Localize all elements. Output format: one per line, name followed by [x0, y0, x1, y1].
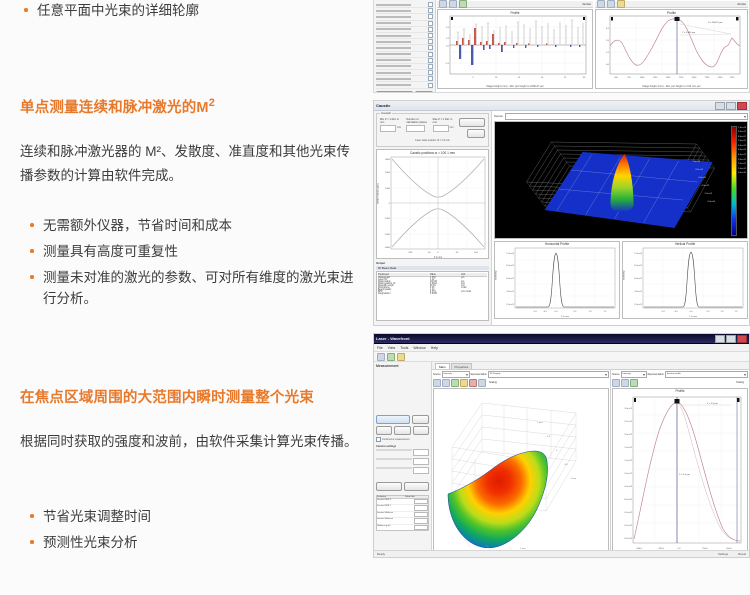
- aux-button-3[interactable]: [413, 426, 429, 435]
- export-button[interactable]: [415, 91, 433, 93]
- svg-text:2.5e+02: 2.5e+02: [624, 421, 632, 423]
- svg-text:0: 0: [437, 252, 439, 254]
- chart-tool-icon[interactable]: [449, 0, 457, 8]
- svg-text:X = 2400.0 µm: X = 2400.0 µm: [708, 22, 723, 24]
- svg-text:20: 20: [541, 77, 544, 79]
- continuous-checkbox[interactable]: [376, 437, 381, 442]
- svg-text:1.0: 1.0: [446, 38, 450, 40]
- status-settings[interactable]: Settings: [718, 552, 728, 556]
- svg-text:1000: 1000: [385, 188, 391, 190]
- svg-text:0.5: 0.5: [707, 311, 711, 313]
- svg-text:0.0e+00: 0.0e+00: [708, 201, 716, 203]
- intensity-3d-svg: 1.0e+038.0e+02 6.0e+024.0e+02 2.0e+020.0…: [495, 122, 730, 239]
- profile-tool-icon[interactable]: [621, 379, 629, 387]
- horizontal-profile-svg: 1.0e+038.0e+02 6.0e+024.0e+02 2.0e+02 -1…: [495, 242, 619, 319]
- zernike-curve-chart[interactable]: Profile X = 2400.0: [595, 9, 748, 89]
- caustic-chart-svg: 300020001000 0-1000-2000 -3000 -100-500 …: [377, 150, 489, 259]
- horizontal-profile-title: Horizontal Profile: [495, 242, 619, 246]
- section-1-bullet-list: 无需额外仪器，节省时间和成本 测量具有高度可重复性 测量未对准的激光的参数、可对…: [26, 215, 366, 314]
- svg-text:Y = 1.0 µm: Y = 1.0 µm: [707, 403, 718, 405]
- window-controls[interactable]: [715, 335, 747, 343]
- left-representation-label: Representation: [471, 373, 487, 376]
- status-ready: Ready: [377, 552, 385, 556]
- svg-text:-1.0: -1.0: [661, 311, 665, 313]
- svg-text:3000: 3000: [385, 159, 391, 161]
- caustic-chart[interactable]: Caustic positions w = 100.1 mm: [376, 149, 489, 259]
- svg-text:-5.0e+01: -5.0e+01: [624, 499, 633, 501]
- min-z-input[interactable]: [380, 125, 396, 132]
- zernike-bar-chart[interactable]: Profile: [437, 9, 593, 89]
- curve-chart-svg: X = 2400.0 µm Y = 1.044 µm 3.02.0 1.00.0…: [596, 10, 746, 89]
- curve-chart-legend: Zernike: [737, 3, 746, 6]
- svg-text:2500: 2500: [718, 77, 723, 79]
- svg-text:500: 500: [614, 77, 618, 79]
- continuous-label: Continuous measurement: [382, 438, 409, 441]
- measurement-pane-title: Measurement: [376, 364, 429, 368]
- caustic-chart-ylabel: Beam radius (µm): [376, 183, 379, 204]
- view-tool-icon[interactable]: [433, 379, 441, 387]
- svg-text:-0.5: -0.5: [674, 311, 678, 313]
- right-source-select[interactable]: Intensity: [621, 371, 647, 378]
- svg-text:1.0e+03: 1.0e+03: [634, 253, 642, 255]
- max-z-input[interactable]: [433, 125, 449, 132]
- svg-text:0.0: 0.0: [555, 311, 559, 313]
- svg-text:10: 10: [495, 77, 498, 79]
- intensity-3d-plot[interactable]: 1.0e+038.0e+02 6.0e+024.0e+02 2.0e+020.0…: [494, 121, 748, 239]
- svg-text:-1.0e+02: -1.0e+02: [624, 512, 633, 514]
- wavefront-surface-plot[interactable]: 1 mm0.5 0-0.5 -1 mm -1 mm-0.5 01 mm: [433, 388, 609, 556]
- screenshot-m2-caustic: Caustic Caustic Min Z = 1 Rel. in mm mm: [373, 100, 750, 326]
- svg-text:-0.5: -0.5: [543, 311, 547, 313]
- wavefront-window-titlebar: Laser - Wavefront: [374, 334, 749, 344]
- minimize-icon[interactable]: [715, 102, 725, 110]
- right-representation-label: Representation: [648, 373, 664, 376]
- close-icon[interactable]: [737, 102, 747, 110]
- menu-item-window[interactable]: Window: [413, 346, 425, 350]
- max-z-label: Max Z = 1 Rel. in mm: [433, 118, 456, 124]
- wavefront-control-pane: Measurement Continuous measurement Camer…: [374, 362, 432, 557]
- svg-text:0.5: 0.5: [547, 436, 551, 438]
- curve-chart-xlabel: Stage height (mm) - Rel. per height in 2…: [596, 85, 747, 88]
- svg-text:1.0e+03: 1.0e+03: [693, 161, 701, 163]
- caustic-window-titlebar: Caustic: [374, 101, 749, 111]
- curve-chart-title: Profile: [596, 11, 747, 15]
- prop-input[interactable]: [414, 505, 428, 510]
- stop-button[interactable]: [412, 415, 429, 424]
- list-item: 无需额外仪器，节省时间和成本: [26, 215, 366, 236]
- vertical-profile-chart[interactable]: Vertical Profile 1.0e+038.0e+02 6.0e: [622, 241, 748, 319]
- left-source-value: Intensity: [443, 373, 452, 375]
- vertical-profile-svg: 1.0e+038.0e+02 6.0e+024.0e+02 2.0e+02 -1…: [623, 242, 747, 319]
- tab-main[interactable]: Main: [435, 363, 450, 369]
- cell-value: 0.0035: [430, 293, 461, 295]
- table-row[interactable]: [376, 82, 433, 88]
- aux-button-2[interactable]: [394, 426, 410, 435]
- svg-text:0: 0: [389, 203, 391, 205]
- section-profile-svg: Y = 1.0 µm Y = 1.0 µm 3.0e+022.5e+02 2.0…: [613, 389, 747, 556]
- camera-setting-input[interactable]: [413, 458, 429, 465]
- menu-item-tools[interactable]: Tools: [400, 346, 408, 350]
- prop-input[interactable]: [414, 512, 428, 517]
- svg-text:-0.5: -0.5: [564, 464, 569, 466]
- section-1-heading: 单点测量连续和脉冲激光的M2: [20, 96, 365, 117]
- cell-definition: Zernike Wellness: [377, 512, 414, 517]
- section-1-heading-superscript: 2: [209, 97, 215, 109]
- close-button[interactable]: [467, 129, 485, 138]
- svg-text:100: 100: [474, 252, 478, 254]
- svg-text:-1000: -1000: [384, 218, 390, 220]
- svg-text:1.0: 1.0: [606, 52, 610, 54]
- svg-text:2000: 2000: [692, 77, 697, 79]
- svg-text:0.0e+00: 0.0e+00: [624, 486, 632, 488]
- svg-text:15: 15: [518, 77, 521, 79]
- wavefront-surface-svg: 1 mm0.5 0-0.5 -1 mm -1 mm-0.5 01 mm: [434, 389, 584, 556]
- svg-text:-1.0: -1.0: [445, 63, 450, 65]
- maximize-icon[interactable]: [726, 335, 736, 343]
- svg-text:1.0: 1.0: [589, 311, 593, 313]
- svg-text:750: 750: [627, 77, 631, 79]
- svg-text:6.0e+02: 6.0e+02: [699, 177, 707, 179]
- m2-results-table[interactable]: Parameter Value Unit Wavelength1.064µm L…: [376, 271, 489, 321]
- chart-tool-icon[interactable]: [439, 0, 447, 8]
- minimize-icon[interactable]: [715, 335, 725, 343]
- prop-input[interactable]: [414, 525, 428, 530]
- svg-text:1750: 1750: [679, 77, 684, 79]
- results-title: Output: [376, 261, 489, 265]
- results-header-parameter: Parameter: [378, 273, 430, 276]
- svg-text:1250: 1250: [653, 77, 658, 79]
- aux-button-1[interactable]: [376, 426, 392, 435]
- top-bullet-list: 任意平面中光束的详细轮廓: [20, 0, 360, 26]
- right-source-label: Source: [612, 373, 620, 376]
- profile-tool-icon[interactable]: [612, 379, 620, 387]
- svg-text:Y = 1.044 µm: Y = 1.044 µm: [682, 32, 695, 34]
- camera-setting-input[interactable]: [413, 449, 429, 456]
- menu-item-view[interactable]: View: [388, 346, 396, 350]
- vertical-profile-title: Vertical Profile: [623, 242, 747, 246]
- svg-text:0: 0: [556, 450, 558, 452]
- right-representation-value: Section profile: [666, 373, 681, 375]
- view-tab-strip[interactable]: Main Properties: [432, 362, 749, 370]
- cell-parameter: Astigmatism: [378, 293, 430, 295]
- chart-tool-icon[interactable]: [597, 0, 605, 8]
- profile-tool-icon[interactable]: [630, 379, 638, 387]
- plane-count-label: Number of calculation planes: [406, 118, 429, 124]
- svg-text:X in mm: X in mm: [561, 316, 569, 318]
- camera-settings-label: Camera settings: [376, 445, 429, 448]
- bar-chart-xlabel: Stage height (mm) - Rel. per height in 2…: [438, 85, 592, 88]
- view-tool-icon[interactable]: [460, 379, 468, 387]
- screenshot-wavefront-analysis: Laser - Wavefront File View Tools Window…: [373, 333, 750, 558]
- left-scaling-label: Scaling: [489, 381, 497, 384]
- caustic-chart-title: Caustic positions w = 100.1 mm: [377, 151, 488, 155]
- section-2-bullet-list: 节省光束调整时间 预测性光束分析: [26, 506, 366, 558]
- colorbar-ticks: 1.0e+03 9.0e+02 8.0e+02 7.0e+02 6.0e+02 …: [737, 126, 746, 234]
- wavefront-statusbar: Ready Settings Result: [374, 550, 749, 557]
- cell-definition: Zernike RMS Y: [377, 505, 414, 510]
- svg-text:5.0e+01: 5.0e+01: [624, 473, 632, 475]
- table-row[interactable]: Wellness (µm): [377, 525, 428, 530]
- intensity-colorbar: 1.0e+03 9.0e+02 8.0e+02 7.0e+02 6.0e+02 …: [730, 122, 747, 238]
- text-column: 任意平面中光束的详细轮廓 单点测量连续和脉冲激光的M2 连续和脉冲激光器的 M²…: [0, 0, 373, 595]
- menu-item-file[interactable]: File: [377, 346, 383, 350]
- chart-tool-icon[interactable]: [607, 0, 615, 8]
- plane-count-input[interactable]: [406, 125, 425, 132]
- results-table-title: M² Beam Data: [376, 266, 489, 270]
- list-item: 测量具有高度可重复性: [26, 241, 366, 262]
- screenshot-zernike-analysis: Zernike Profile: [373, 0, 750, 93]
- prop-input[interactable]: [414, 518, 428, 523]
- calibration-label: [376, 478, 429, 481]
- left-source-label: Source: [433, 373, 441, 376]
- chart-tool-icon[interactable]: [617, 0, 625, 8]
- svg-text:0.0: 0.0: [606, 64, 610, 66]
- results-header-value: Value: [430, 273, 461, 276]
- prop-input[interactable]: [414, 499, 428, 504]
- caustic-right-column: Source Intensity: [492, 111, 750, 326]
- bar-chart-svg: 2.01.0 0.0-1.0 51015 202530: [438, 10, 592, 89]
- calibration-button-1[interactable]: [376, 482, 402, 491]
- svg-text:3.0e+02: 3.0e+02: [624, 408, 632, 410]
- section-profile-title: Profile: [613, 389, 747, 393]
- svg-text:1.5e+02: 1.5e+02: [624, 447, 632, 449]
- svg-text:1.0e+02: 1.0e+02: [624, 460, 632, 462]
- svg-text:6.0e+02: 6.0e+02: [506, 278, 514, 280]
- section-profile-chart[interactable]: Profile: [612, 388, 748, 556]
- svg-text:2250: 2250: [705, 77, 710, 79]
- maximize-icon[interactable]: [726, 102, 736, 110]
- colorbar-tick: 0.0e+00: [738, 171, 746, 176]
- svg-text:8.0e+02: 8.0e+02: [634, 265, 642, 267]
- calibration-button-2[interactable]: [404, 482, 430, 491]
- bar-chart-legend: Zernike: [582, 3, 591, 6]
- svg-text:2.0e+02: 2.0e+02: [705, 193, 713, 195]
- calculate-button[interactable]: [459, 118, 485, 127]
- waist-hint: Laser waist position z0 = 0.0 mm: [380, 139, 485, 142]
- svg-text:1.5: 1.5: [604, 311, 608, 313]
- menu-item-help[interactable]: Help: [431, 346, 438, 350]
- source-select[interactable]: Intensity: [505, 113, 748, 120]
- section-2-paragraph: 根据同时获取的强度和波前，由软件采集计算光束传播。: [20, 430, 360, 454]
- source-label: Source: [494, 114, 503, 118]
- svg-text:3.0: 3.0: [606, 28, 610, 30]
- chart-tool-icon[interactable]: [459, 0, 467, 8]
- view-tool-icon[interactable]: [442, 379, 450, 387]
- zernike-bar-chart-container: Zernike Profile: [436, 0, 594, 93]
- svg-text:1000: 1000: [640, 77, 645, 79]
- svg-text:2.0e+02: 2.0e+02: [624, 434, 632, 436]
- cell-definition: Zernike Wellness: [377, 518, 414, 523]
- svg-text:Y in mm: Y in mm: [689, 316, 697, 318]
- list-item: 任意平面中光束的详细轮廓: [20, 0, 360, 21]
- colorbar-tick: 9.0e+02: [738, 130, 746, 135]
- caustic-group-label: Caustic: [380, 111, 392, 115]
- svg-text:Y = 1.0 µm: Y = 1.0 µm: [679, 474, 690, 476]
- left-representation-value: 3D Display: [489, 373, 501, 375]
- svg-text:1 mm: 1 mm: [537, 422, 543, 424]
- svg-text:-1 mm: -1 mm: [570, 478, 576, 480]
- left-representation-select[interactable]: 3D Display: [488, 371, 609, 378]
- caustic-settings-group: Caustic Min Z = 1 Rel. in mm mm Number o…: [376, 113, 489, 147]
- colorbar-tick: 4.0e+02: [738, 153, 746, 158]
- zernike-parameter-pane: [374, 0, 436, 93]
- svg-text:8.0e+02: 8.0e+02: [696, 169, 704, 171]
- cell-unit: [461, 293, 487, 295]
- svg-text:Z in mm: Z in mm: [434, 257, 442, 259]
- svg-text:2.0: 2.0: [446, 27, 450, 29]
- table-row[interactable]: Astigmatism0.0035: [378, 293, 487, 295]
- prop-header-value: Value/Unit: [405, 496, 428, 498]
- list-item: 节省光束调整时间: [26, 506, 366, 527]
- horizontal-profile-ylabel: Intensity: [494, 270, 497, 280]
- svg-text:-2.0e+02: -2.0e+02: [624, 538, 633, 540]
- bar-chart-toolbar[interactable]: Zernike: [437, 1, 593, 8]
- start-button[interactable]: [376, 415, 410, 424]
- svg-text:2000: 2000: [385, 172, 391, 174]
- svg-text:1.0: 1.0: [721, 311, 725, 313]
- left-source-select[interactable]: Intensity: [442, 371, 470, 378]
- svg-text:8.0e+02: 8.0e+02: [506, 265, 514, 267]
- svg-text:50: 50: [456, 252, 459, 254]
- close-icon[interactable]: [737, 335, 747, 343]
- horizontal-profile-chart[interactable]: Horizontal Profile 1.0e+038.0e+02 6.: [494, 241, 620, 319]
- svg-text:4.0e+02: 4.0e+02: [634, 291, 642, 293]
- svg-text:5: 5: [472, 77, 474, 79]
- tab-properties[interactable]: Properties: [451, 363, 473, 369]
- list-item: 预测性光束分析: [26, 532, 366, 553]
- wavefront-menubar[interactable]: File View Tools Window Help: [374, 344, 749, 352]
- svg-text:30: 30: [583, 77, 586, 79]
- svg-text:1500: 1500: [666, 77, 671, 79]
- view-tool-icon[interactable]: [469, 379, 477, 387]
- svg-text:-50: -50: [427, 252, 431, 254]
- wavefront-3d-view: Source Intensity Representation 3D Displ…: [432, 370, 611, 558]
- svg-text:4.0e+02: 4.0e+02: [702, 185, 710, 187]
- right-scaling-label: Scaling: [736, 381, 744, 384]
- caustic-left-column: Caustic Min Z = 1 Rel. in mm mm Number o…: [374, 111, 492, 326]
- section-1-heading-text: 单点测量连续和脉冲激光的M: [20, 100, 209, 116]
- wavefront-toolbar[interactable]: [374, 352, 749, 362]
- min-z-label: Min Z = 1 Rel. in mm: [380, 118, 403, 124]
- svg-text:-100: -100: [408, 252, 413, 254]
- svg-text:0.0: 0.0: [690, 311, 694, 313]
- svg-text:1.5: 1.5: [735, 311, 739, 313]
- svg-text:-1.5e+02: -1.5e+02: [624, 525, 633, 527]
- results-header-unit: Unit: [461, 273, 487, 276]
- right-representation-select[interactable]: Section profile: [665, 371, 748, 378]
- svg-text:4.0e+02: 4.0e+02: [506, 291, 514, 293]
- svg-text:0.0: 0.0: [446, 46, 450, 48]
- wavefront-profile-view: Source Intensity Representation Section …: [611, 370, 749, 558]
- window-controls[interactable]: [715, 102, 747, 110]
- run-icon[interactable]: [397, 353, 405, 361]
- svg-text:2.0e+02: 2.0e+02: [634, 304, 642, 306]
- right-source-value: Intensity: [622, 373, 631, 375]
- svg-text:2750: 2750: [730, 77, 735, 79]
- list-item: 测量未对准的激光的参数、可对所有维度的激光束进行分析。: [26, 267, 366, 309]
- section-1-paragraph: 连续和脉冲激光器的 M²、发散度、准直度和其他光束传播参数的计算由软件完成。: [20, 140, 360, 188]
- bar-chart-title: Profile: [438, 11, 592, 15]
- enable-disable-all-button[interactable]: [376, 91, 413, 93]
- zernike-curve-chart-container: Zernike Profile: [594, 0, 749, 93]
- cell-definition: Zernike RMS X: [377, 499, 414, 504]
- svg-text:-2000: -2000: [384, 234, 390, 236]
- curve-chart-toolbar[interactable]: Zernike: [595, 1, 748, 8]
- wavefront-window-title: Laser - Wavefront: [376, 336, 410, 341]
- cell-definition: Wellness (µm): [377, 525, 414, 530]
- svg-text:2.0e+02: 2.0e+02: [506, 304, 514, 306]
- view-tool-icon[interactable]: [478, 379, 486, 387]
- svg-text:6.0e+02: 6.0e+02: [634, 278, 642, 280]
- caustic-window-title: Caustic: [376, 103, 390, 108]
- wavefront-work-area: Main Properties Source Intensity Represe…: [432, 362, 749, 557]
- status-result[interactable]: Result: [738, 552, 746, 556]
- view-tool-icon[interactable]: [451, 379, 459, 387]
- svg-text:1.0e+03: 1.0e+03: [506, 253, 514, 255]
- save-icon[interactable]: [387, 353, 395, 361]
- prop-header-definition: Definition: [377, 496, 405, 498]
- svg-text:0.5: 0.5: [574, 311, 578, 313]
- camera-setting-input[interactable]: [413, 467, 429, 474]
- vertical-profile-ylabel: Intensity: [622, 270, 625, 280]
- svg-text:2.0: 2.0: [606, 40, 610, 42]
- svg-text:25: 25: [564, 77, 567, 79]
- svg-text:-1.0: -1.0: [533, 311, 537, 313]
- svg-text:-3000: -3000: [384, 247, 390, 249]
- section-2-heading: 在焦点区域周围的大范围内瞬时测量整个光束: [20, 386, 370, 407]
- open-icon[interactable]: [377, 353, 385, 361]
